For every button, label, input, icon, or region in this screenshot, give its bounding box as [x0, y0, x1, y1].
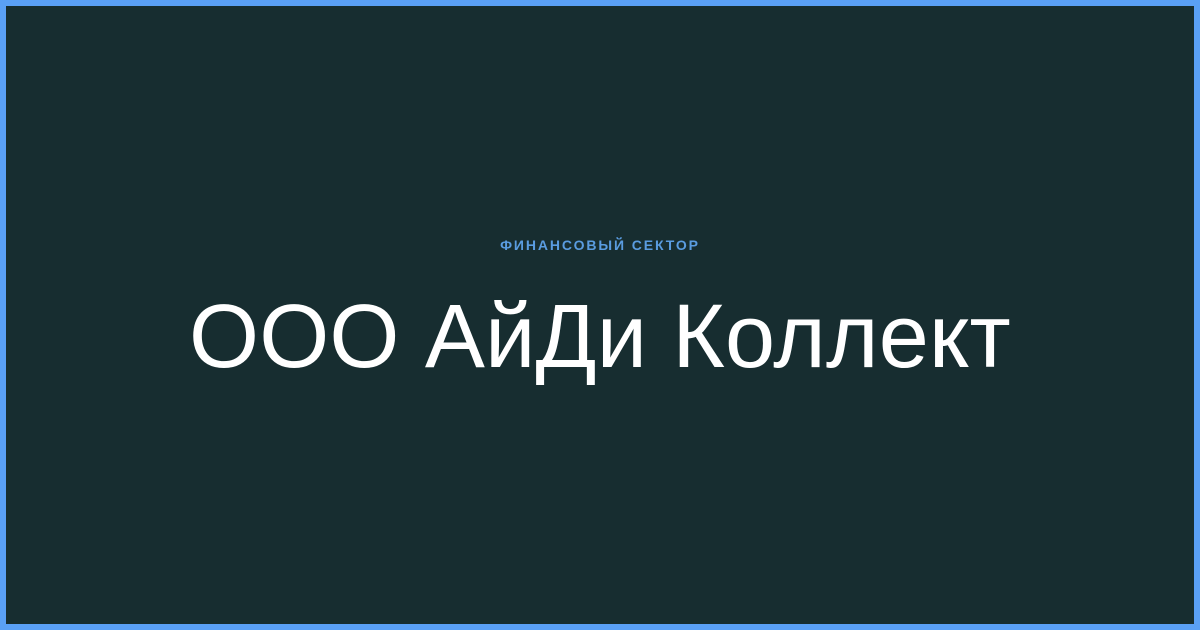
company-banner-card: ФИНАНСОВЫЙ СЕКТОР ООО АйДи Коллект	[0, 0, 1200, 630]
category-eyebrow: ФИНАНСОВЫЙ СЕКТОР	[46, 238, 1154, 252]
company-title: ООО АйДи Коллект	[46, 290, 1154, 385]
banner-content: ФИНАНСОВЫЙ СЕКТОР ООО АйДи Коллект	[6, 238, 1194, 385]
